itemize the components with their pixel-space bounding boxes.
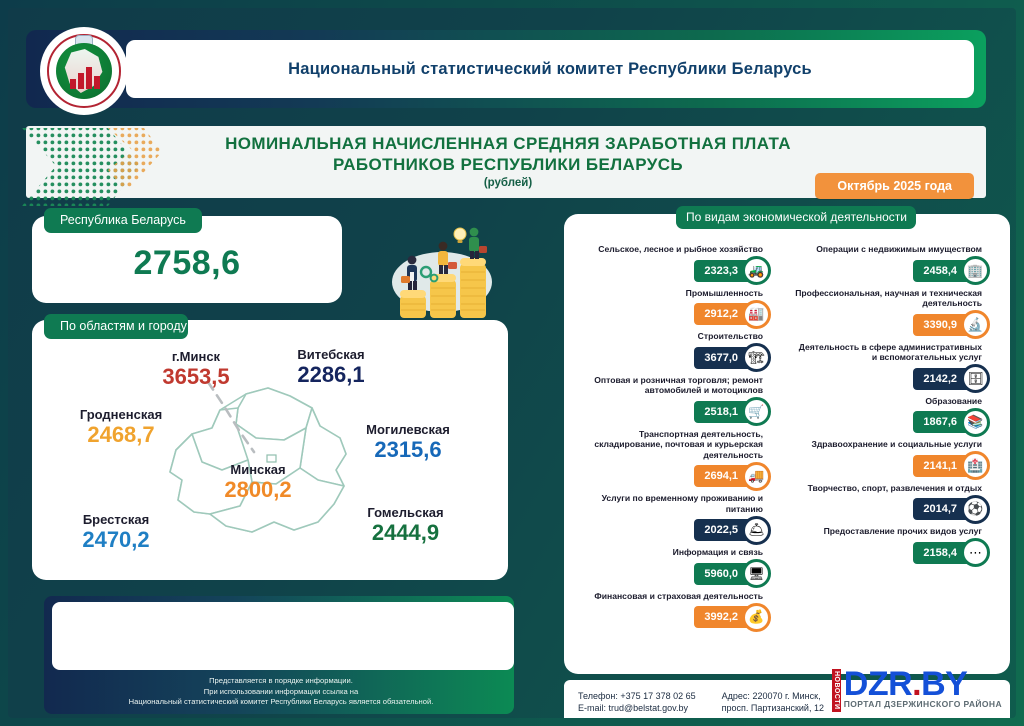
computer-icon: 🖥 xyxy=(742,559,771,588)
region-vitebskaya: Витебская 2286,1 xyxy=(266,348,396,386)
economic-activity-value-row: 2014,7⚽ xyxy=(789,494,1006,524)
economic-activity-value-row: 2142,2🗄 xyxy=(789,364,1006,394)
sports-icon: ⚽ xyxy=(961,495,990,524)
office-desk-icon: 🗄 xyxy=(961,364,990,393)
organization-name: Национальный статистический комитет Респ… xyxy=(288,60,812,79)
economic-activity-item: Образование1867,6📚 xyxy=(789,396,1006,438)
economic-activity-item: Творчество, спорт, развлечения и отдых20… xyxy=(789,483,1006,525)
economic-activity-value-row: 2458,4🏢 xyxy=(789,256,1006,286)
belstat-emblem-icon xyxy=(42,29,126,113)
coins-icon: 💰 xyxy=(742,603,771,632)
title-units: (рублей) xyxy=(158,177,858,189)
economic-activity-item: Информация и связь5960,0🖥 xyxy=(570,547,787,589)
republic-tab-label: Республика Беларусь xyxy=(44,208,202,233)
economic-activity-value-row: 2158,4⋯ xyxy=(789,538,1006,568)
economic-activity-label: Предоставление прочих видов услуг xyxy=(789,526,1006,538)
disclaimer-text: Представляется в порядке информации. При… xyxy=(48,676,514,708)
economic-activity-value-row: 1867,6📚 xyxy=(789,407,1006,437)
footer-contact: Телефон: +375 17 378 02 65 E-mail: trud@… xyxy=(564,680,1010,718)
region-gomelskaya: Гомельская 2444,9 xyxy=(338,506,473,544)
books-icon: 📚 xyxy=(961,408,990,437)
economic-activity-item: Оптовая и розничная торговля; ремонт авт… xyxy=(570,375,787,427)
regions-tab-label: По областям и городу Минску xyxy=(44,314,188,339)
economic-activity-label: Промышленность xyxy=(570,288,787,300)
economic-activity-value-row: 3390,9🔬 xyxy=(789,310,1006,340)
region-mogilevskaya: Могилевская 2315,6 xyxy=(338,423,478,461)
building-icon: 🏢 xyxy=(961,256,990,285)
economic-activity-label: Операции с недвижимым имуществом xyxy=(789,244,1006,256)
economic-activity-item: Транспортная деятельность, складирование… xyxy=(570,429,787,492)
other-services-icon: ⋯ xyxy=(961,538,990,567)
economic-activity-label: Финансовая и страховая деятельность xyxy=(570,591,787,603)
economic-activity-item: Промышленность2912,2🏭 xyxy=(570,288,787,330)
economic-activity-value-row: 2912,2🏭 xyxy=(570,299,787,329)
economic-columns: Сельское, лесное и рыбное хозяйство2323,… xyxy=(570,244,1006,668)
halftone-dots-decoration xyxy=(22,126,162,208)
republic-value: 2758,6 xyxy=(32,244,342,283)
page-frame: Национальный статистический комитет Респ… xyxy=(8,8,1016,718)
economic-activity-item: Строительство3677,0🏗 xyxy=(570,331,787,373)
economic-activity-item: Здравоохранение и социальные услуги2141,… xyxy=(789,439,1006,481)
people-on-coin-stacks-illustration xyxy=(386,220,504,328)
header-title-plate: Национальный статистический комитет Респ… xyxy=(126,40,974,98)
economic-column-right: Операции с недвижимым имуществом2458,4🏢П… xyxy=(789,244,1006,668)
infographic-poster: Национальный статистический комитет Респ… xyxy=(0,0,1024,726)
contact-phone: Телефон: +375 17 378 02 65 xyxy=(578,690,696,702)
economic-activity-item: Финансовая и страховая деятельность3992,… xyxy=(570,591,787,633)
hospital-icon: 🏥 xyxy=(961,451,990,480)
contact-phone-block: Телефон: +375 17 378 02 65 E-mail: trud@… xyxy=(578,690,696,714)
economic-activity-value-row: 2323,3🚜 xyxy=(570,256,787,286)
economic-activity-value-row: 2694,1🚚 xyxy=(570,461,787,491)
economic-column-left: Сельское, лесное и рыбное хозяйство2323,… xyxy=(570,244,787,668)
economic-activity-label: Профессиональная, научная и техническая … xyxy=(789,288,1006,310)
contact-email[interactable]: E-mail: trud@belstat.gov.by xyxy=(578,702,696,714)
economic-activity-value-row: 5960,0🖥 xyxy=(570,559,787,589)
truck-icon: 🚚 xyxy=(742,462,771,491)
contact-address-line-1: Адрес: 220070 г. Минск, xyxy=(722,690,824,702)
title-line-2: РАБОТНИКОВ РЕСПУБЛИКИ БЕЛАРУСЬ xyxy=(158,154,858,175)
economic-activity-item: Деятельность в сфере административных и … xyxy=(789,342,1006,394)
economic-activity-label: Творчество, спорт, развлечения и отдых xyxy=(789,483,1006,495)
economic-activity-value-row: 2141,1🏥 xyxy=(789,451,1006,481)
economic-activity-item: Услуги по временному проживанию и питани… xyxy=(570,493,787,545)
region-brestskaya: Брестская 2470,2 xyxy=(56,513,176,551)
hospitality-icon: 🛎 xyxy=(742,516,771,545)
region-grodnenskaya: Гродненская 2468,7 xyxy=(56,408,186,446)
shopping-cart-icon: 🛒 xyxy=(742,397,771,426)
contact-address-block: Адрес: 220070 г. Минск, просп. Партизанс… xyxy=(722,690,824,714)
economic-activity-label: Информация и связь xyxy=(570,547,787,559)
economic-activity-value-row: 2518,1🛒 xyxy=(570,397,787,427)
economic-activity-item: Сельское, лесное и рыбное хозяйство2323,… xyxy=(570,244,787,286)
economic-activity-label: Здравоохранение и социальные услуги xyxy=(789,439,1006,451)
economic-activity-value-row: 3992,2💰 xyxy=(570,602,787,632)
economic-activity-label: Строительство xyxy=(570,331,787,343)
region-minskaya: Минская 2800,2 xyxy=(203,463,313,501)
contact-address-line-2: просп. Партизанский, 12 xyxy=(722,702,824,714)
microscope-icon: 🔬 xyxy=(961,310,990,339)
crane-icon: 🏗 xyxy=(742,343,771,372)
economic-activity-item: Предоставление прочих видов услуг2158,4⋯ xyxy=(789,526,1006,568)
economic-activity-label: Сельское, лесное и рыбное хозяйство xyxy=(570,244,787,256)
economic-activity-label: Транспортная деятельность, складирование… xyxy=(570,429,787,462)
links-card xyxy=(52,602,514,670)
factory-icon: 🏭 xyxy=(742,300,771,329)
period-badge: Октябрь 2025 года xyxy=(815,173,974,199)
title-line-1: НОМИНАЛЬНАЯ НАЧИСЛЕННАЯ СРЕДНЯЯ ЗАРАБОТН… xyxy=(158,133,858,154)
economic-activity-item: Операции с недвижимым имуществом2458,4🏢 xyxy=(789,244,1006,286)
economic-activity-value-row: 2022,5🛎 xyxy=(570,515,787,545)
economic-activity-label: Образование xyxy=(789,396,1006,408)
economic-activity-value-row: 3677,0🏗 xyxy=(570,343,787,373)
page-title: НОМИНАЛЬНАЯ НАЧИСЛЕННАЯ СРЕДНЯЯ ЗАРАБОТН… xyxy=(158,133,858,189)
tractor-icon: 🚜 xyxy=(742,256,771,285)
economic-tab-label: По видам экономической деятельности xyxy=(676,206,916,229)
economic-activity-item: Профессиональная, научная и техническая … xyxy=(789,288,1006,340)
economic-activity-label: Оптовая и розничная торговля; ремонт авт… xyxy=(570,375,787,397)
economic-activity-label: Деятельность в сфере административных и … xyxy=(789,342,1006,364)
economic-activity-label: Услуги по временному проживанию и питани… xyxy=(570,493,787,515)
region-minsk-city: г.Минск 3653,5 xyxy=(136,350,256,388)
